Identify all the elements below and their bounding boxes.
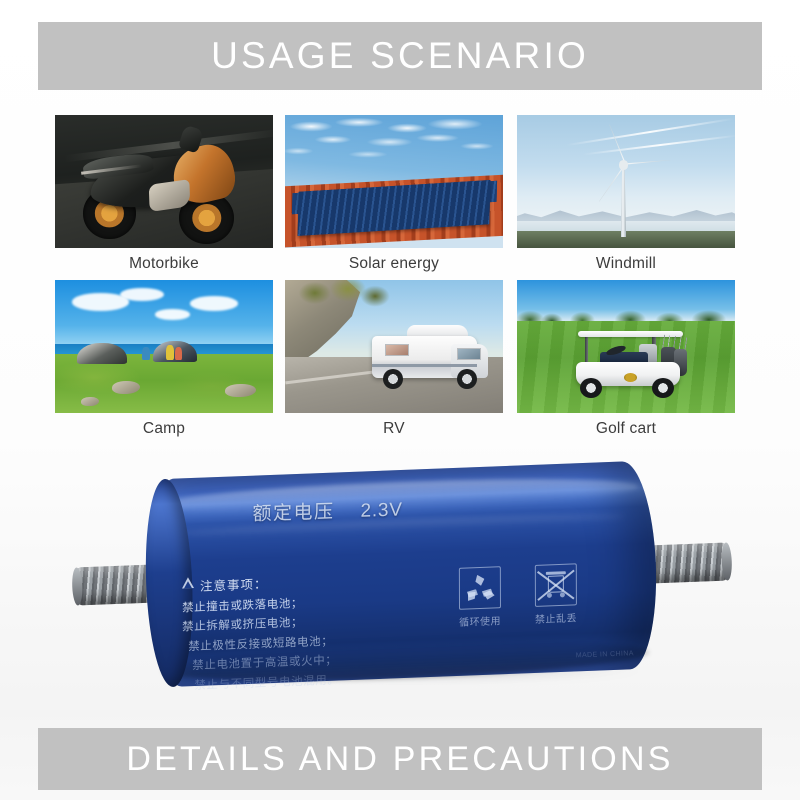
bin-lid	[546, 571, 566, 575]
camper-2	[166, 345, 174, 360]
front-rim	[192, 204, 221, 232]
rated-voltage-label: 额定电压	[252, 502, 334, 526]
rock-3	[225, 384, 256, 397]
recycle-symbol-group: 循环使用	[459, 566, 501, 629]
turbine-blade-3	[625, 158, 670, 167]
turbine-blade-2	[607, 123, 628, 165]
usage-scenario-banner: USAGE SCENARIO	[38, 22, 762, 90]
golf-cart-photo	[517, 280, 735, 413]
compliance-symbols: 循环使用 禁止乱丢	[459, 563, 577, 629]
rv-side-window	[385, 344, 409, 356]
precautions-heading-text: 注意事项：	[200, 577, 268, 594]
no-litter-symbol-group: 禁止乱丢	[535, 563, 577, 626]
rated-voltage-value: 2.3V	[360, 499, 402, 521]
scenario-item-rv: RV	[285, 280, 503, 438]
rv-rear-wheel	[383, 369, 403, 389]
solar-energy-photo	[285, 115, 503, 248]
turbine-tower	[621, 163, 627, 237]
cloud-3	[190, 296, 238, 311]
caption-solar-energy: Solar energy	[285, 255, 503, 273]
caption-windmill: Windmill	[517, 255, 735, 273]
battery-product-shot: 额定电压2.3V 注意事项： 禁止撞击或跌落电池； 禁止拆解或挤压电池； 禁止极…	[0, 448, 800, 728]
positive-terminal-stud	[649, 542, 728, 583]
cylindrical-lifepo4-cell: 额定电压2.3V 注意事项： 禁止撞击或跌落电池； 禁止拆解或挤压电池； 禁止极…	[144, 460, 660, 687]
rated-voltage-print: 额定电压2.3V	[252, 494, 402, 526]
rv-photo	[285, 280, 503, 413]
scenario-item-golf-cart: Golf cart	[517, 280, 735, 438]
caption-golf-cart: Golf cart	[517, 420, 735, 438]
cliff-vegetation	[294, 280, 399, 317]
recycle-arrow-1	[475, 574, 484, 585]
turbine-hub	[619, 160, 629, 169]
warning-triangle-icon	[182, 577, 194, 588]
scenario-item-windmill: Windmill	[517, 115, 735, 273]
no-litter-symbol-label: 禁止乱丢	[535, 609, 577, 626]
scenario-item-solar-energy: Solar energy	[285, 115, 503, 273]
usage-scenario-title: USAGE SCENARIO	[211, 35, 589, 77]
caption-camp: Camp	[55, 420, 273, 438]
caption-motorbike: Motorbike	[55, 255, 273, 273]
product-usage-scenario-page: USAGE SCENARIO Motorbike	[0, 0, 800, 800]
caption-rv: RV	[285, 420, 503, 438]
terminal-cap-right	[721, 542, 732, 580]
camper-1	[142, 347, 149, 360]
contrail-1	[566, 118, 734, 147]
camper-3	[175, 347, 182, 360]
rv-cab-window	[457, 348, 481, 360]
camp-photo	[55, 280, 273, 413]
recycle-symbol-box	[459, 566, 501, 610]
battery-shell: 额定电压2.3V 注意事项： 禁止撞击或跌落电池； 禁止拆解或挤压电池； 禁止极…	[144, 460, 660, 687]
scenario-grid: Motorbike Solar energy	[55, 115, 745, 445]
windmill-photo	[517, 115, 735, 248]
bin-wheel-left	[547, 593, 552, 598]
recycle-arrow-4	[467, 589, 478, 597]
scenario-item-camp: Camp	[55, 280, 273, 438]
cloud-4	[155, 309, 190, 320]
rv-front-wheel	[457, 369, 477, 389]
negative-terminal-stud	[76, 565, 155, 606]
rv-side-stripe	[372, 364, 477, 367]
details-precautions-banner: DETAILS AND PRECAUTIONS	[38, 728, 762, 790]
scenario-item-motorbike: Motorbike	[55, 115, 273, 273]
recycle-icon	[465, 572, 495, 603]
details-precautions-title: DETAILS AND PRECAUTIONS	[126, 740, 673, 779]
precautions-print: 注意事项： 禁止撞击或跌落电池； 禁止拆解或挤压电池； 禁止极性反接或短路电池；…	[180, 566, 455, 693]
recycle-symbol-label: 循环使用	[459, 612, 501, 629]
cloud-2	[120, 288, 164, 301]
motorbike-photo	[55, 115, 273, 248]
terminal-cap-left	[72, 567, 83, 605]
no-litter-symbol-box	[535, 563, 577, 607]
